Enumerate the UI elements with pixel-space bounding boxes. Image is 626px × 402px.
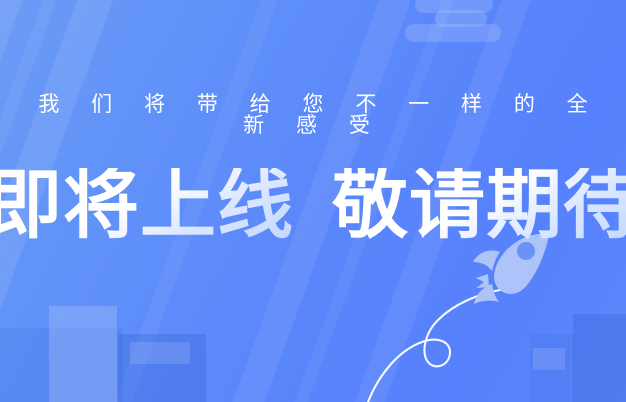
cloud-bar-bottom	[405, 24, 501, 42]
building-window-mid	[130, 342, 190, 364]
cloud-icon	[405, 0, 517, 42]
headline-part-1: 即将上线	[0, 168, 294, 244]
banner-headline: 即将上线 敬请期待	[0, 168, 626, 244]
banner-subtitle: 我 们 将 带 给 您 不 一 样 的 全 新 感 受	[0, 94, 626, 136]
building-block-right-tall	[573, 314, 626, 402]
building-block-left-tall	[49, 306, 117, 402]
coming-soon-banner: 我 们 将 带 给 您 不 一 样 的 全 新 感 受 即将上线 敬请期待	[0, 0, 626, 402]
headline-part-2: 敬请期待	[332, 168, 626, 244]
